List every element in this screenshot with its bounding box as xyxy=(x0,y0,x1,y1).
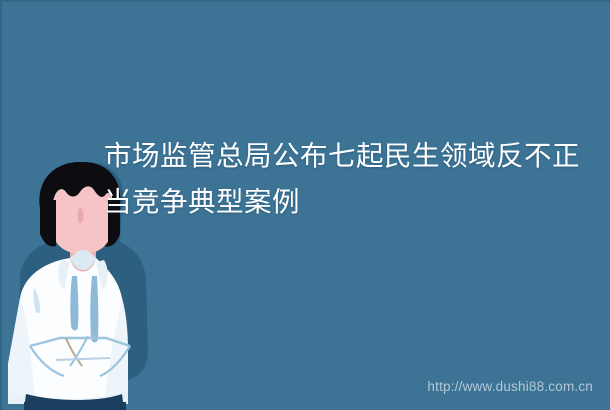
pants-lower xyxy=(24,402,126,410)
news-poster-card: 市场监管总局公布七起民生领域反不正当竞争典型案例 http://www.dush… xyxy=(0,0,610,410)
drawstring-right xyxy=(90,276,98,343)
nose xyxy=(78,208,84,223)
drawstring-left xyxy=(70,276,78,331)
watermark-url: http://www.dushi88.com.cn xyxy=(427,379,593,394)
page-title: 市场监管总局公布七起民生领域反不正当竞争典型案例 xyxy=(104,133,596,225)
